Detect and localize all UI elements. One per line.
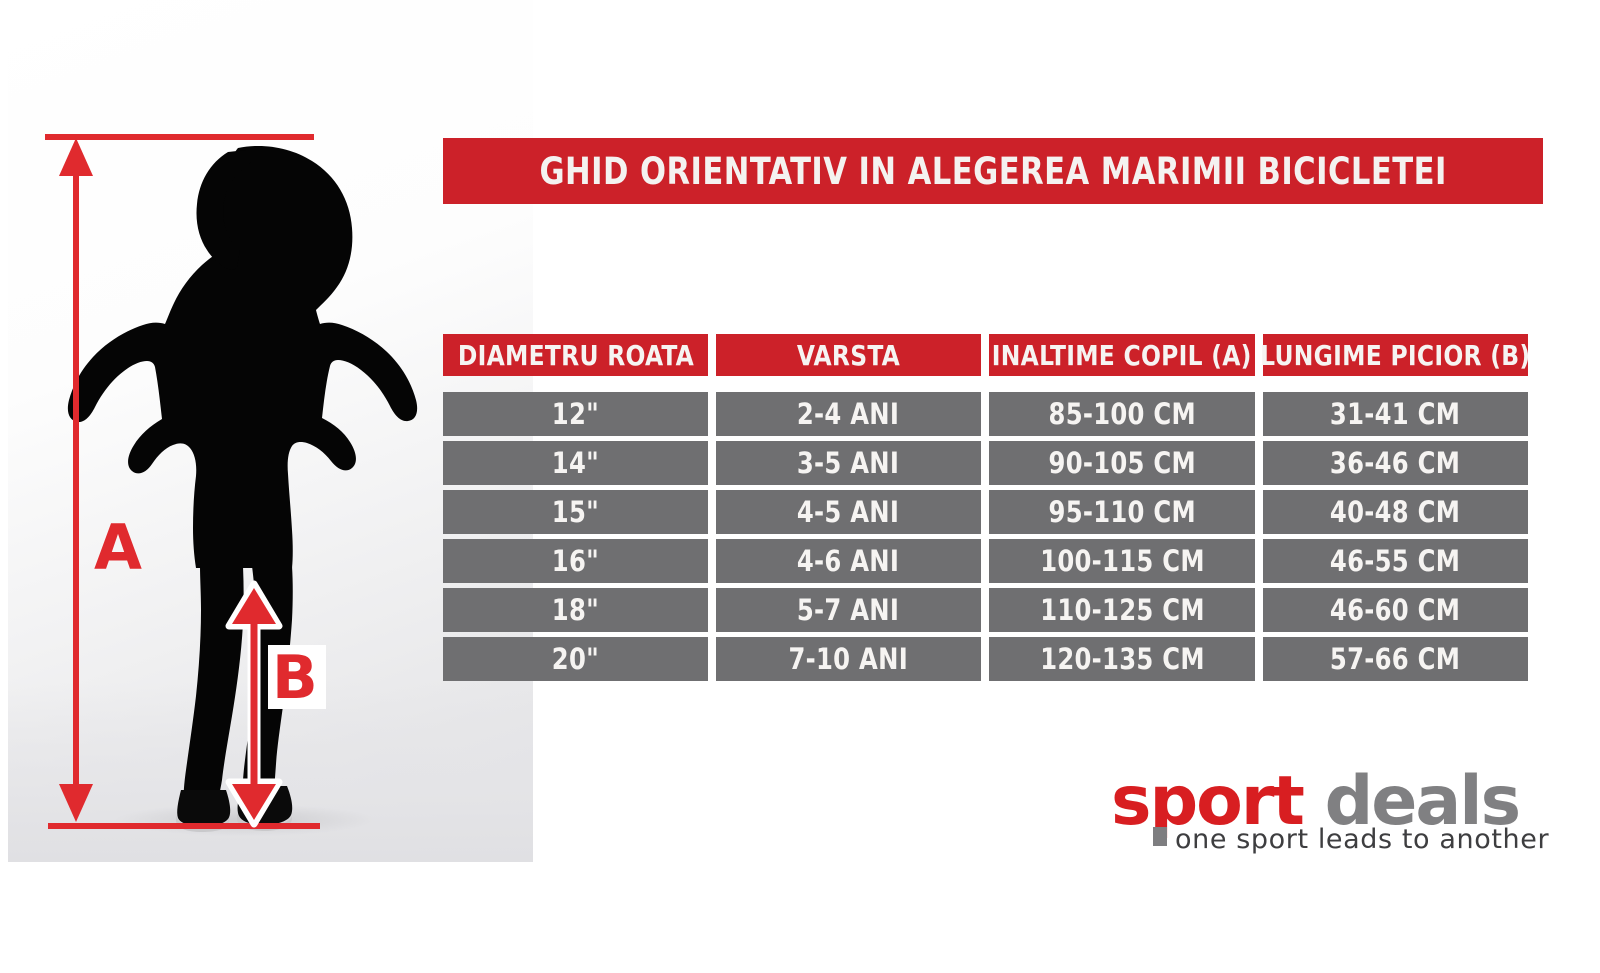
cell-wheel-diameter: 12"	[443, 392, 708, 436]
page-title: GHID ORIENTATIV IN ALEGEREA MARIMII BICI…	[539, 150, 1446, 193]
cell-leg-length: 46-60 CM	[1263, 588, 1528, 632]
cell-value: 57-66 CM	[1330, 642, 1460, 676]
measurement-label-a: A	[94, 517, 141, 579]
header-label: LUNGIME PICIOR (B)	[1260, 339, 1530, 372]
cell-value: 36-46 CM	[1330, 446, 1460, 480]
brand-logo: sport deals one sport leads to another	[1111, 768, 1523, 860]
logo-tagline: one sport leads to another	[1175, 824, 1549, 855]
bike-size-table: DIAMETRU ROATA VARSTA INALTIME COPIL (A)…	[443, 334, 1543, 686]
table-header-varsta: VARSTA	[716, 334, 981, 376]
cell-child-height: 100-115 CM	[989, 539, 1255, 583]
table-header-inaltime-copil: INALTIME COPIL (A)	[989, 334, 1255, 376]
cell-value: 20"	[552, 642, 599, 676]
cell-age: 7-10 ANI	[716, 637, 981, 681]
table-row: 14" 3-5 ANI 90-105 CM 36-46 CM	[443, 441, 1543, 485]
cell-value: 4-5 ANI	[797, 495, 899, 529]
header-label: INALTIME COPIL (A)	[992, 339, 1252, 372]
cell-wheel-diameter: 18"	[443, 588, 708, 632]
cell-leg-length: 57-66 CM	[1263, 637, 1528, 681]
cell-value: 12"	[552, 397, 599, 431]
cell-value: 95-110 CM	[1048, 495, 1195, 529]
cell-wheel-diameter: 14"	[443, 441, 708, 485]
cell-value: 85-100 CM	[1048, 397, 1195, 431]
cell-value: 5-7 ANI	[797, 593, 899, 627]
cell-value: 3-5 ANI	[797, 446, 899, 480]
cell-leg-length: 46-55 CM	[1263, 539, 1528, 583]
cell-value: 16"	[552, 544, 599, 578]
cell-value: 100-115 CM	[1040, 544, 1205, 578]
cell-value: 90-105 CM	[1048, 446, 1195, 480]
table-row: 20" 7-10 ANI 120-135 CM 57-66 CM	[443, 637, 1543, 681]
cell-value: 31-41 CM	[1330, 397, 1460, 431]
cell-age: 4-6 ANI	[716, 539, 981, 583]
cell-value: 2-4 ANI	[797, 397, 899, 431]
table-header-diametru-roata: DIAMETRU ROATA	[443, 334, 708, 376]
table-row: 16" 4-6 ANI 100-115 CM 46-55 CM	[443, 539, 1543, 583]
cell-value: 46-55 CM	[1330, 544, 1460, 578]
cell-leg-length: 31-41 CM	[1263, 392, 1528, 436]
cell-age: 5-7 ANI	[716, 588, 981, 632]
title-banner: GHID ORIENTATIV IN ALEGEREA MARIMII BICI…	[443, 138, 1543, 204]
cell-value: 110-125 CM	[1040, 593, 1205, 627]
cell-value: 18"	[552, 593, 599, 627]
cell-age: 3-5 ANI	[716, 441, 981, 485]
cell-wheel-diameter: 20"	[443, 637, 708, 681]
content-area: GHID ORIENTATIV IN ALEGEREA MARIMII BICI…	[443, 0, 1553, 973]
logo-square-icon	[1153, 827, 1167, 846]
cell-wheel-diameter: 15"	[443, 490, 708, 534]
cell-child-height: 120-135 CM	[989, 637, 1255, 681]
cell-child-height: 95-110 CM	[989, 490, 1255, 534]
cell-value: 40-48 CM	[1330, 495, 1460, 529]
cell-value: 46-60 CM	[1330, 593, 1460, 627]
cell-value: 4-6 ANI	[797, 544, 899, 578]
header-label: DIAMETRU ROATA	[457, 339, 693, 372]
table-header-lungime-picior: LUNGIME PICIOR (B)	[1263, 334, 1528, 376]
cell-wheel-diameter: 16"	[443, 539, 708, 583]
table-header-row: DIAMETRU ROATA VARSTA INALTIME COPIL (A)…	[443, 334, 1543, 376]
cell-value: 7-10 ANI	[789, 642, 909, 676]
cell-child-height: 90-105 CM	[989, 441, 1255, 485]
cell-value: 120-135 CM	[1040, 642, 1205, 676]
cell-child-height: 85-100 CM	[989, 392, 1255, 436]
measurement-label-b: B	[272, 648, 317, 708]
table-row: 18" 5-7 ANI 110-125 CM 46-60 CM	[443, 588, 1543, 632]
table-row: 12" 2-4 ANI 85-100 CM 31-41 CM	[443, 392, 1543, 436]
cell-value: 15"	[552, 495, 599, 529]
cell-age: 4-5 ANI	[716, 490, 981, 534]
cell-child-height: 110-125 CM	[989, 588, 1255, 632]
cell-leg-length: 40-48 CM	[1263, 490, 1528, 534]
table-row: 15" 4-5 ANI 95-110 CM 40-48 CM	[443, 490, 1543, 534]
cell-leg-length: 36-46 CM	[1263, 441, 1528, 485]
cell-value: 14"	[552, 446, 599, 480]
header-label: VARSTA	[797, 339, 900, 372]
cell-age: 2-4 ANI	[716, 392, 981, 436]
